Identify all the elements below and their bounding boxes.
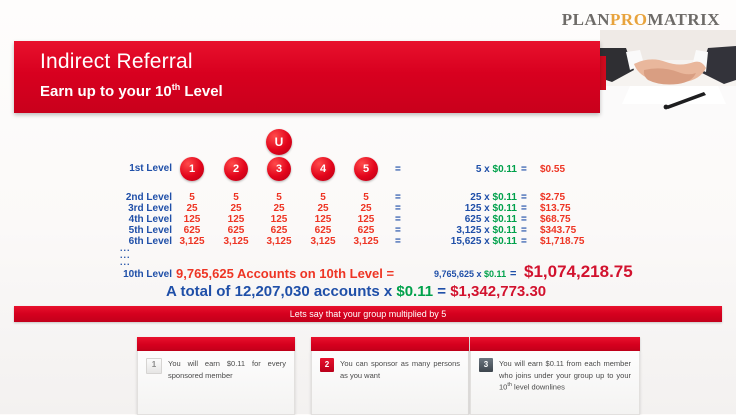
cell-l6-c1: 3,125	[172, 236, 212, 247]
grand-total-pre: A total of 12,207,030 accounts x	[166, 283, 396, 300]
cell-l3-c3: 25	[259, 203, 299, 214]
cell-l2-c1: 5	[172, 192, 212, 203]
level10-calc: 9,765,625 x $0.11	[434, 269, 506, 279]
calc-mul-3: 125 x $0.11	[447, 203, 517, 214]
calc-result-6: $1,718.75	[540, 236, 585, 247]
node-2: 2	[224, 157, 248, 181]
equals-sign-res-1: =	[521, 164, 527, 175]
info-card-1-body: 1 You will earn $0.11 for every sponsore…	[137, 351, 295, 415]
cell-l6-c2: 3,125	[216, 236, 256, 247]
equals-sign-res-3: =	[521, 203, 527, 214]
cell-l6-c3: 3,125	[259, 236, 299, 247]
logo-part-matrix: MATRIX	[647, 10, 720, 29]
cell-l4-c5: 125	[346, 214, 386, 225]
cell-l6-c4: 3,125	[303, 236, 343, 247]
info-card-2: 2 You can sponsor as many persons as you…	[311, 337, 469, 415]
badge-number-3: 3	[479, 358, 493, 372]
level-label-6: 6th Level	[108, 236, 172, 247]
info-card-2-text: You can sponsor as many persons as you w…	[340, 358, 460, 381]
calc-result-3: $13.75	[540, 203, 571, 214]
calc-result-4: $68.75	[540, 214, 571, 225]
grand-total-eq: =	[433, 283, 450, 300]
page-title: Indirect Referral	[40, 50, 193, 74]
calc-mul-text-4: 625 x	[465, 214, 493, 225]
calc-mul-text-1: 5 x	[476, 164, 493, 175]
equals-sign-1: =	[395, 164, 401, 175]
node-5: 5	[354, 157, 378, 181]
badge-number-1: 1	[146, 358, 162, 374]
cell-l2-c3: 5	[259, 192, 299, 203]
calc-mul-1: 5 x $0.11	[447, 164, 517, 175]
grand-total-amount: $1,342,773.30	[450, 283, 546, 300]
cell-l3-c2: 25	[216, 203, 256, 214]
logo-part-pro: PRO	[610, 10, 647, 29]
cell-l5-c4: 625	[303, 225, 343, 236]
cell-l3-c1: 25	[172, 203, 212, 214]
info-card-1: 1 You will earn $0.11 for every sponsore…	[137, 337, 295, 415]
calc-money-6: $0.11	[493, 236, 517, 247]
calc-money-3: $0.11	[493, 203, 517, 214]
equals-sign-5: =	[395, 225, 401, 236]
cell-l4-c4: 125	[303, 214, 343, 225]
equals-sign-6: =	[395, 236, 401, 247]
handshake-photo	[600, 30, 736, 120]
level10-calc-mul: 9,765,625 x	[434, 269, 484, 279]
cell-l5-c5: 625	[346, 225, 386, 236]
calc-mul-text-3: 125 x	[465, 203, 493, 214]
level10-calc-money: $0.11	[484, 269, 506, 279]
info-card-2-header	[311, 337, 469, 351]
equals-sign-res-6: =	[521, 236, 527, 247]
subtitle-text: Earn up to your 10	[40, 83, 172, 100]
equals-sign-4: =	[395, 214, 401, 225]
cell-l2-c2: 5	[216, 192, 256, 203]
node-4: 4	[311, 157, 335, 181]
equals-sign-2: =	[395, 192, 401, 203]
info-card-3-text: You will earn $0.11 from each member who…	[499, 358, 631, 393]
cell-l4-c1: 125	[172, 214, 212, 225]
calc-mul-6: 15,625 x $0.11	[447, 236, 517, 247]
level10-total: $1,074,218.75	[524, 262, 633, 282]
level10-equals: =	[510, 268, 516, 280]
equals-sign-3: =	[395, 203, 401, 214]
info-card-3-text-post: level downlines	[512, 383, 565, 392]
root-node-u: U	[266, 129, 292, 155]
calc-mul-text-2: 25 x	[470, 192, 492, 203]
info-card-1-text: You will earn $0.11 for every sponsored …	[168, 358, 286, 381]
calc-money-4: $0.11	[493, 214, 517, 225]
cell-l3-c5: 25	[346, 203, 386, 214]
info-card-3-header	[470, 337, 640, 351]
level-label-2: 2nd Level	[108, 192, 172, 203]
calc-money-1: $0.11	[493, 164, 517, 175]
cell-l5-c1: 625	[172, 225, 212, 236]
grand-total-money: $0.11	[396, 283, 433, 300]
cell-l2-c4: 5	[303, 192, 343, 203]
ellipsis-3: ...	[120, 257, 131, 267]
equals-sign-res-2: =	[521, 192, 527, 203]
cell-l2-c5: 5	[346, 192, 386, 203]
subtitle-ordinal: th	[172, 82, 181, 92]
cell-l3-c4: 25	[303, 203, 343, 214]
calc-result-2: $2.75	[540, 192, 565, 203]
cell-l5-c3: 625	[259, 225, 299, 236]
page-subtitle: Earn up to your 10th Level	[40, 82, 223, 100]
node-3: 3	[267, 157, 291, 181]
logo-part-plan: PLAN	[562, 10, 610, 29]
level10-accounts-text: 9,765,625 Accounts on 10th Level =	[176, 266, 394, 281]
level-label-5: 5th Level	[108, 225, 172, 236]
slide-root: PLANPROMATRIX Indirect Referral Earn up …	[0, 0, 736, 414]
calc-mul-5: 3,125 x $0.11	[447, 225, 517, 236]
info-card-3-body: 3 You will earn $0.11 from each member w…	[470, 351, 640, 415]
node-1: 1	[180, 157, 204, 181]
calc-mul-2: 25 x $0.11	[447, 192, 517, 203]
info-card-2-body: 2 You can sponsor as many persons as you…	[311, 351, 469, 415]
header-banner: Indirect Referral Earn up to your 10th L…	[14, 41, 600, 113]
level-label-3: 3rd Level	[108, 203, 172, 214]
level-label-4: 4th Level	[108, 214, 172, 225]
cell-l6-c5: 3,125	[346, 236, 386, 247]
calc-money-5: $0.11	[493, 225, 517, 236]
calc-mul-4: 625 x $0.11	[447, 214, 517, 225]
calc-mul-text-5: 3,125 x	[456, 225, 492, 236]
calc-mul-text-6: 15,625 x	[451, 236, 493, 247]
level-label-10: 10th Level	[108, 269, 172, 280]
grand-total-line: A total of 12,207,030 accounts x $0.11 =…	[166, 283, 546, 300]
equals-sign-res-4: =	[521, 214, 527, 225]
info-card-1-header	[137, 337, 295, 351]
multiplier-strip: Lets say that your group multiplied by 5	[14, 306, 722, 322]
calc-result-5: $343.75	[540, 225, 576, 236]
level-label-1: 1st Level	[108, 163, 172, 174]
subtitle-text-end: Level	[180, 83, 223, 100]
cell-l4-c2: 125	[216, 214, 256, 225]
cell-l4-c3: 125	[259, 214, 299, 225]
equals-sign-res-5: =	[521, 225, 527, 236]
info-card-3: 3 You will earn $0.11 from each member w…	[470, 337, 640, 415]
calc-money-2: $0.11	[493, 192, 517, 203]
brand-logo: PLANPROMATRIX	[562, 10, 720, 30]
calc-result-1: $0.55	[540, 164, 565, 175]
cell-l5-c2: 625	[216, 225, 256, 236]
badge-number-2: 2	[320, 358, 334, 372]
